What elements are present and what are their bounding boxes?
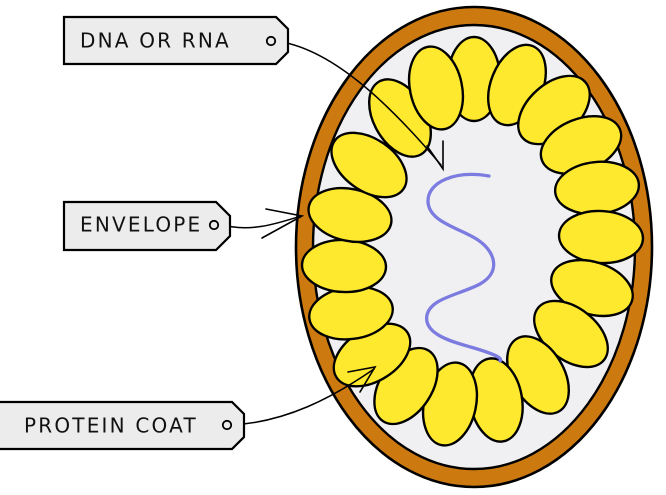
- virus-structure-diagram: DNA OR RNA ENVELOPE PROTEIN COAT: [0, 0, 666, 495]
- label-tag-dna-or-rna[interactable]: DNA OR RNA: [64, 17, 288, 64]
- label-text-protein-coat: PROTEIN COAT: [24, 414, 198, 438]
- label-text-dna-or-rna: DNA OR RNA: [80, 29, 231, 53]
- label-tag-protein-coat[interactable]: PROTEIN COAT: [0, 402, 244, 449]
- envelope-leader-line: [220, 216, 301, 228]
- tag-hole-icon: [267, 37, 275, 45]
- label-text-envelope: ENVELOPE: [80, 213, 202, 237]
- label-tag-envelope[interactable]: ENVELOPE: [64, 202, 230, 250]
- diagram-canvas: DNA OR RNA ENVELOPE PROTEIN COAT: [0, 0, 666, 495]
- virion-group: [296, 7, 652, 487]
- tag-hole-icon: [210, 221, 218, 229]
- tag-hole-icon: [223, 421, 231, 429]
